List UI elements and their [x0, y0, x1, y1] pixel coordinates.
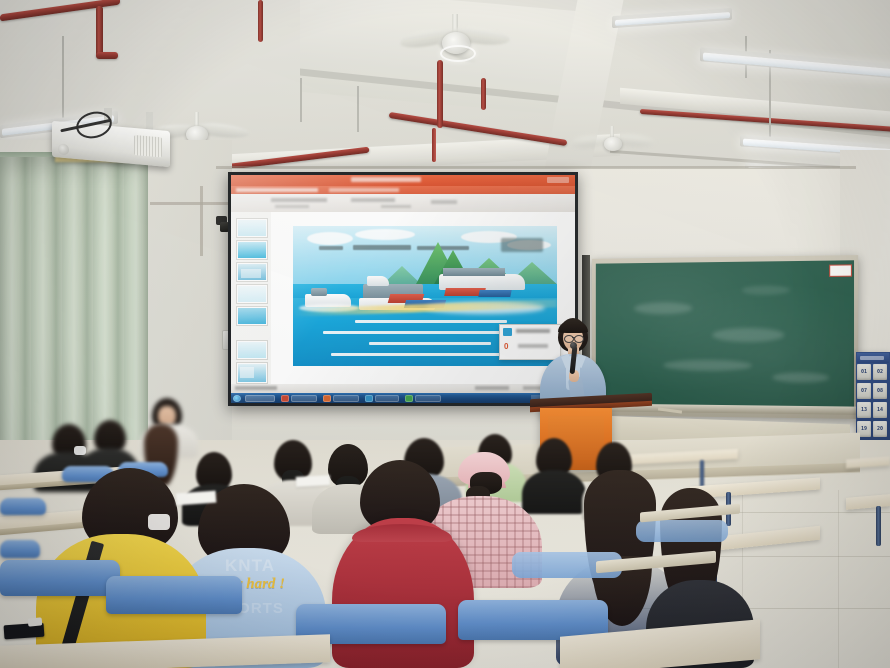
locker-row: 0708 — [857, 383, 889, 399]
light-hanger-5 — [62, 36, 64, 122]
light-hanger-2 — [357, 86, 359, 132]
inspection-label — [829, 264, 852, 277]
light-hanger-1 — [300, 78, 302, 122]
earbud-case[interactable] — [28, 617, 43, 626]
locker-slot-number: 19 — [861, 426, 867, 432]
locker-slot[interactable]: 20 — [873, 421, 887, 437]
sprinkler-drop-1 — [258, 0, 263, 42]
window-curtain — [0, 157, 148, 457]
locker-slot-number: 02 — [877, 369, 883, 375]
chair-back[interactable] — [0, 540, 40, 558]
locker-slot-number: 14 — [877, 407, 883, 413]
paper-notes — [296, 475, 330, 487]
chair-back-front-left[interactable] — [0, 560, 120, 596]
floor-tile-line — [838, 490, 839, 668]
chair-back-right[interactable] — [636, 520, 728, 542]
student-face — [158, 406, 176, 426]
screen-glare — [231, 175, 575, 403]
face-mask — [74, 446, 86, 455]
ceiling-fan-right — [570, 126, 656, 164]
chair-back-front-2[interactable] — [106, 576, 242, 614]
locker-header-label — [860, 356, 884, 360]
locker-slot-number: 08 — [877, 388, 883, 394]
projection-screen: 0 — [228, 172, 578, 406]
desk-leg — [876, 506, 881, 546]
sprinkler-pipe-drop-left — [96, 6, 103, 58]
locker-slot[interactable]: 08 — [873, 383, 887, 399]
locker-header — [857, 353, 889, 363]
face-mask — [148, 514, 170, 530]
projection-screen-surface: 0 — [231, 175, 575, 403]
projector-lens-icon — [58, 143, 69, 155]
chair-back[interactable] — [0, 498, 46, 515]
wall-conduit-h — [150, 202, 228, 205]
locker-slot-number: 07 — [861, 388, 867, 394]
locker-slot-number: 01 — [861, 369, 867, 375]
locker-slot[interactable]: 07 — [857, 383, 871, 399]
sprinkler-pipe-elbow — [96, 52, 118, 59]
wall-conduit-v — [200, 186, 203, 256]
locker-row: 1314 — [857, 402, 889, 418]
locker-slot[interactable]: 02 — [873, 364, 887, 380]
sprinkler-drop-2 — [481, 78, 486, 110]
locker-slot-number: 13 — [861, 407, 867, 413]
locker-slot[interactable]: 01 — [857, 364, 871, 380]
fan-support-drop — [437, 60, 443, 128]
locker-slot[interactable]: 13 — [857, 402, 871, 418]
locker-slot-number: 20 — [877, 426, 883, 432]
locker-row: 0102 — [857, 364, 889, 380]
classroom-photo: 0 — [0, 0, 890, 668]
lecturer-fringe — [558, 320, 588, 333]
tee-ghost-text: KNTA — [196, 556, 304, 576]
locker-slot[interactable]: 14 — [873, 402, 887, 418]
chalkboard-surface — [596, 260, 854, 410]
sprinkler-drop-3 — [432, 128, 436, 162]
ceiling-fan-center — [400, 14, 510, 68]
locker-row: 1920 — [857, 421, 889, 437]
student-dark-top — [522, 470, 586, 514]
wall-ceiling-joint — [216, 166, 856, 169]
microphone-head-icon — [570, 342, 577, 349]
